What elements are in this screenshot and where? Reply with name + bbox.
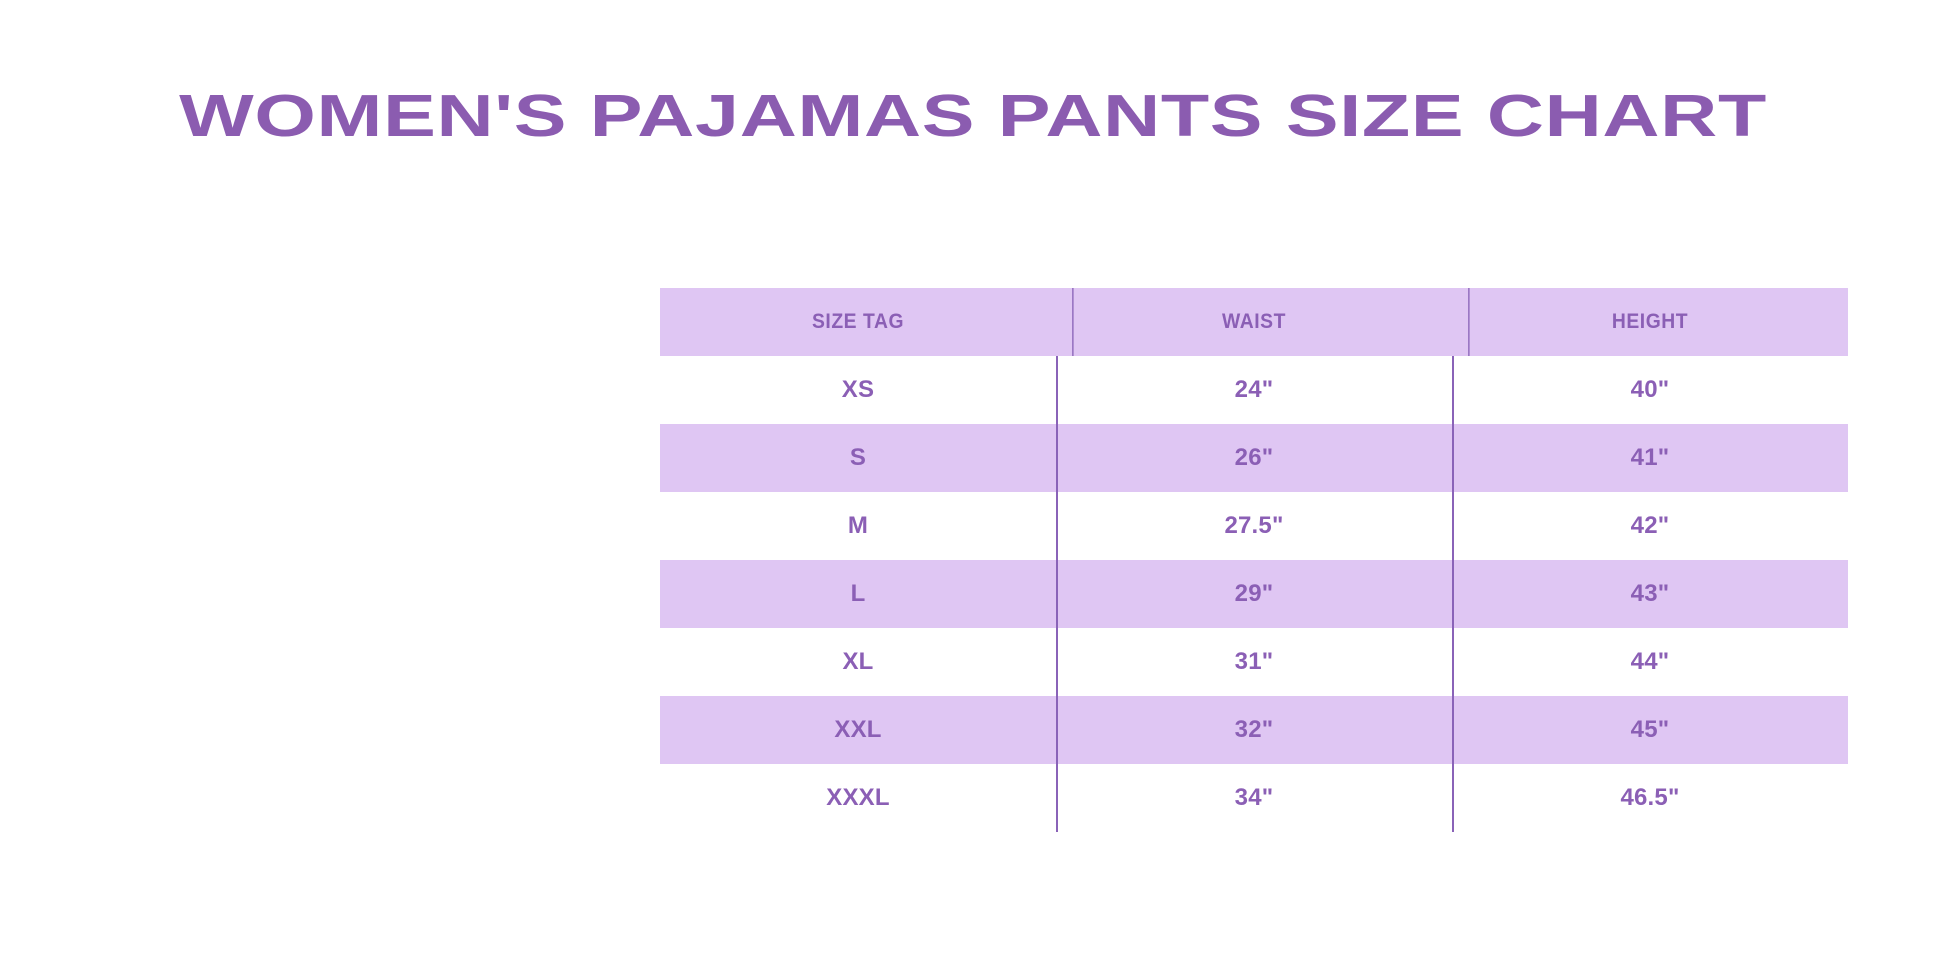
table-body: XS 24" 40" S 26" 41" M 27.5" 42" L 29" 4… bbox=[660, 356, 1848, 832]
cell-height: 40" bbox=[1452, 356, 1848, 424]
table-row: M 27.5" 42" bbox=[660, 492, 1848, 560]
table-header: SIZE TAG WAIST HEIGHT bbox=[660, 288, 1848, 356]
cell-waist: 34" bbox=[1056, 764, 1452, 832]
cell-height: 41" bbox=[1452, 424, 1848, 492]
cell-size-tag: M bbox=[660, 492, 1056, 560]
cell-height: 44" bbox=[1452, 628, 1848, 696]
cell-size-tag: S bbox=[660, 424, 1056, 492]
cell-size-tag: L bbox=[660, 560, 1056, 628]
cell-height: 42" bbox=[1452, 492, 1848, 560]
table-row: XS 24" 40" bbox=[660, 356, 1848, 424]
table-header-row: SIZE TAG WAIST HEIGHT bbox=[660, 288, 1848, 356]
table-row: S 26" 41" bbox=[660, 424, 1848, 492]
cell-waist: 27.5" bbox=[1056, 492, 1452, 560]
size-chart-page: WOMEN'S PAJAMAS PANTS SIZE CHART SIZE TA… bbox=[0, 0, 1946, 973]
table-row: L 29" 43" bbox=[660, 560, 1848, 628]
column-header-waist: WAIST bbox=[1072, 288, 1436, 356]
cell-waist: 26" bbox=[1056, 424, 1452, 492]
cell-height: 43" bbox=[1452, 560, 1848, 628]
cell-waist: 31" bbox=[1056, 628, 1452, 696]
cell-height: 46.5" bbox=[1452, 764, 1848, 832]
cell-waist: 29" bbox=[1056, 560, 1452, 628]
cell-size-tag: XXXL bbox=[660, 764, 1056, 832]
cell-size-tag: XL bbox=[660, 628, 1056, 696]
size-chart-table: SIZE TAG WAIST HEIGHT XS 24" 40" S 26" 4… bbox=[660, 288, 1848, 832]
cell-waist: 32" bbox=[1056, 696, 1452, 764]
table-row: XXL 32" 45" bbox=[660, 696, 1848, 764]
cell-height: 45" bbox=[1452, 696, 1848, 764]
cell-size-tag: XXL bbox=[660, 696, 1056, 764]
table-row: XL 31" 44" bbox=[660, 628, 1848, 696]
cell-size-tag: XS bbox=[660, 356, 1056, 424]
table-row: XXXL 34" 46.5" bbox=[660, 764, 1848, 832]
column-header-height: HEIGHT bbox=[1468, 288, 1832, 356]
page-title: WOMEN'S PAJAMAS PANTS SIZE CHART bbox=[0, 84, 1946, 149]
column-header-size-tag: SIZE TAG bbox=[676, 288, 1040, 356]
cell-waist: 24" bbox=[1056, 356, 1452, 424]
